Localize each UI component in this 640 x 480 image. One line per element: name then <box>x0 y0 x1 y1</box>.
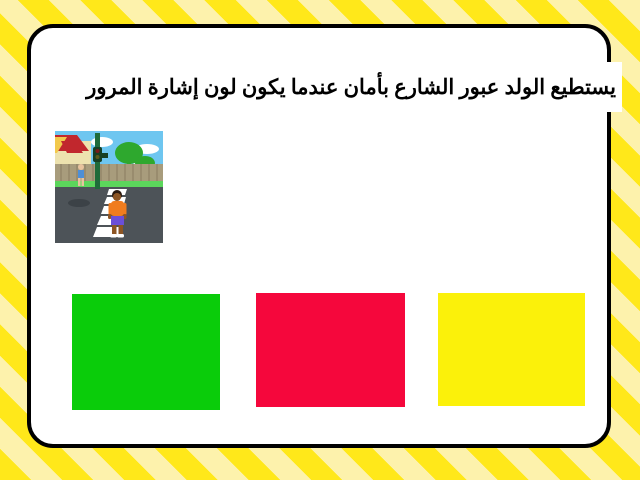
answer-option-green[interactable] <box>72 294 220 410</box>
question-text: يستطيع الولد عبور الشارع بأمان عندما يكو… <box>32 75 622 99</box>
answer-option-yellow[interactable] <box>438 293 585 406</box>
street-crossing-illustration <box>55 131 163 243</box>
question-band: يستطيع الولد عبور الشارع بأمان عندما يكو… <box>32 62 622 112</box>
answer-option-red[interactable] <box>256 293 405 407</box>
quiz-slide: يستطيع الولد عبور الشارع بأمان عندما يكو… <box>0 0 640 480</box>
illustration-svg <box>55 131 163 243</box>
